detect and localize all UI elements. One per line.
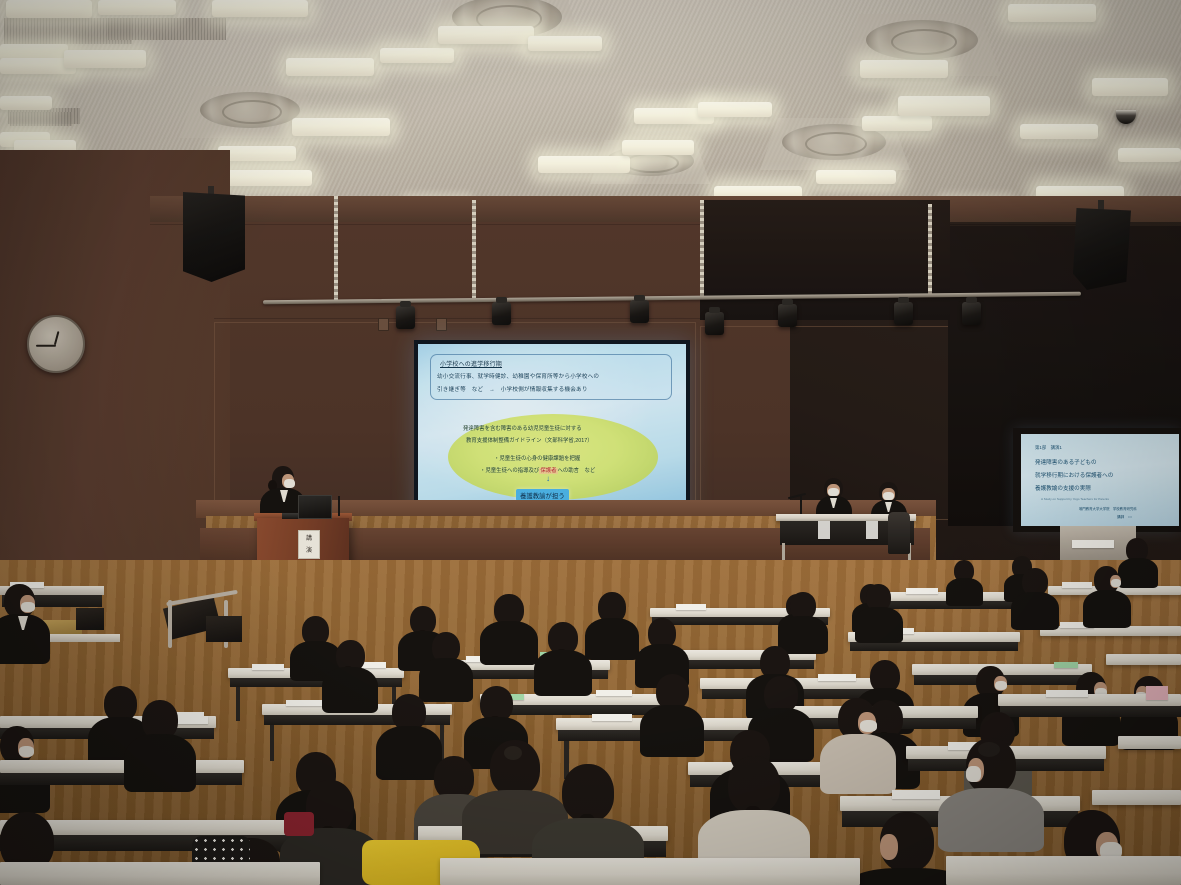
podium-sign-char2: 演 [299, 547, 319, 555]
desk-row5 [1118, 736, 1181, 749]
slide-oval-line4-pre: ・児童生徒への指導及び [480, 468, 539, 474]
document-sheet [1046, 690, 1088, 697]
document-sheet [906, 588, 938, 594]
speaker-right [1073, 208, 1131, 290]
wall-outlet [436, 318, 447, 331]
side-slide-presenter: 講師 ○○ [1117, 515, 1132, 520]
body [855, 607, 903, 643]
body [946, 578, 983, 606]
stage-spotlight [962, 302, 981, 325]
face-mask [860, 720, 877, 732]
body [1083, 590, 1131, 628]
body [534, 650, 592, 696]
document-sheet [892, 790, 940, 799]
document-sheet [286, 700, 322, 706]
document-sheet [676, 604, 706, 610]
stage-spotlight [492, 302, 511, 325]
speaker-left [183, 192, 245, 282]
panelist-face-mask [828, 488, 839, 496]
hair-clip [978, 742, 1000, 757]
wall-clock [27, 315, 85, 373]
stage-spotlight [396, 306, 415, 329]
air-vent-icon [866, 20, 978, 60]
desk-front-row [946, 856, 1181, 885]
body [419, 658, 473, 702]
document-sheet-pink [1146, 686, 1168, 700]
body [820, 734, 896, 794]
panel-table-nameplate [866, 521, 878, 539]
ceiling-light [212, 0, 308, 17]
stage-spotlight [630, 300, 649, 323]
podium-sign-char1: 講 [299, 535, 319, 543]
panel-microphone [800, 496, 802, 514]
desk-front-row [0, 862, 320, 885]
document-sheet [818, 674, 856, 681]
document-sheet-green [1054, 662, 1078, 668]
slide-header-line1: 幼小交流行事、就学時健診、幼稚園や保育所等から小学校への [437, 372, 599, 380]
body [778, 616, 828, 654]
body [322, 667, 378, 713]
face [880, 834, 898, 860]
body [640, 705, 704, 757]
body [480, 621, 538, 665]
panel-chair [888, 512, 910, 554]
body [1011, 592, 1059, 630]
desk-leg [236, 687, 240, 721]
document-sheet [252, 664, 284, 670]
ceiling-light [0, 96, 52, 110]
body [124, 734, 196, 792]
equipment-cart-frame [168, 600, 172, 648]
ceiling-light [6, 0, 92, 18]
ceiling-light [98, 0, 176, 15]
panel-table-nameplate [818, 521, 830, 539]
doorway-dark [700, 200, 950, 320]
ceiling-light [860, 60, 948, 78]
ceiling-grille [10, 112, 72, 126]
face-mask [19, 746, 34, 757]
ceiling-light [528, 36, 602, 51]
desk-front [1000, 706, 1181, 717]
face-mask [995, 681, 1007, 690]
stage-spotlight [778, 304, 797, 327]
stage-spotlight [894, 302, 913, 325]
ceiling-light [816, 170, 896, 184]
laptop-screen[interactable] [298, 495, 332, 519]
red-pouch [284, 812, 314, 836]
ceiling-light [1118, 148, 1181, 162]
stage-spotlight [705, 312, 724, 335]
ceiling-light [380, 48, 454, 63]
clock-hour-hand [54, 331, 60, 345]
side-slide-eyebrow: 第1部 講演1 [1035, 445, 1062, 451]
ceiling-light [286, 58, 374, 76]
desk-leg [270, 725, 274, 761]
face-mask [21, 602, 35, 612]
projection-screen-main[interactable]: 小学校への進学移行期 幼小交流行事、就学時健診、幼稚園や保育所等から小学校への … [418, 344, 686, 521]
slide-header-line2: 引き継ぎ等 など → 小学校側が情報収集する機会あり [437, 385, 588, 393]
slide-oval-line4: ・児童生徒への指導及び保護者への助言 など [480, 466, 595, 474]
panelist-face-mask [883, 492, 894, 500]
podium-sign: 講 演 [298, 530, 320, 559]
slide-arrow-down-icon: ↓ [546, 476, 550, 482]
ceiling-light [292, 118, 390, 136]
side-screen-papers [1072, 540, 1114, 548]
drop-chain [472, 200, 476, 298]
presenter-face-mask [284, 479, 295, 488]
document-sheet [596, 690, 632, 696]
body [376, 726, 442, 780]
drop-chain [928, 204, 932, 296]
side-slide-affiliation: 鳴門教育大学大学院 学校教育研究科 [1079, 506, 1137, 511]
side-slide-line1: 発達障害のある子どもの [1035, 458, 1097, 466]
drop-chain [700, 200, 704, 296]
desk-row3 [1106, 654, 1181, 665]
ceiling-light [862, 116, 932, 131]
slide-oval-line2: 教育支援体制整備ガイドライン（文部科学省,2017） [466, 436, 593, 444]
desk-front [0, 773, 242, 785]
desk-front-row [440, 858, 860, 885]
desk-row5 [0, 760, 244, 773]
ceiling-light [1020, 124, 1098, 139]
face-mask [1111, 579, 1121, 587]
side-slide-line3: 養護教諭の支援の実際 [1035, 484, 1091, 492]
desk-front [850, 642, 1018, 651]
ceiling-light [438, 26, 534, 44]
wall-upper-band [150, 196, 1181, 222]
drop-chain [334, 196, 338, 300]
body [1118, 558, 1158, 588]
av-monitor [76, 608, 104, 630]
air-vent-icon [200, 92, 300, 128]
face-mask [966, 766, 981, 782]
side-screen[interactable]: 第1部 講演1 発達障害のある子どもの 就学移行期における保護者への 養護教諭の… [1021, 434, 1179, 526]
document-sheet [592, 714, 632, 721]
body [585, 618, 639, 660]
document-sheet [1062, 582, 1092, 588]
slide-oval-line3: ・児童生徒の心身の健康課題を把握 [494, 454, 580, 462]
podium-microphone [338, 496, 340, 516]
ceiling-light [698, 102, 772, 117]
ceiling-light [898, 96, 990, 116]
ceiling-light [1008, 4, 1096, 22]
wall-outlet [378, 318, 389, 331]
hair-clip [504, 746, 522, 760]
body [938, 788, 1044, 852]
side-slide-line2: 就学移行期における保護者への [1035, 471, 1113, 479]
side-slide-subline: A Study on Support by Yogo Teachers for … [1041, 497, 1109, 501]
clock-minute-hand [36, 345, 56, 347]
stacked-chairs [206, 616, 242, 642]
slide-oval-line1: 発達障害を含む障害のある幼児児童生徒に対する [463, 424, 582, 432]
desk-row6 [1092, 790, 1181, 805]
ceiling-light [622, 140, 694, 155]
lecture-hall-photo: 小学校への進学移行期 幼小交流行事、就学時健診、幼稚園や保育所等から小学校への … [0, 0, 1181, 885]
slide-header-title: 小学校への進学移行期 [440, 359, 502, 368]
ceiling-light [538, 156, 630, 173]
ceiling-light [1092, 78, 1168, 96]
ceiling-grille [108, 18, 226, 40]
slide-oval-line4-post: への助言 など [558, 468, 596, 474]
ceiling-light [64, 50, 146, 68]
